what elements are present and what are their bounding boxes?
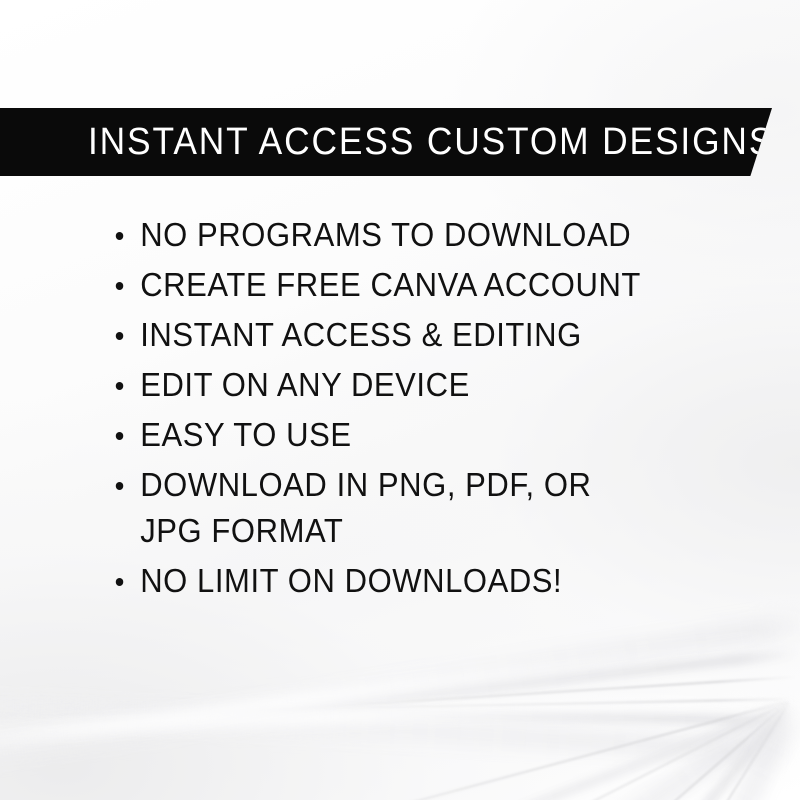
list-item-label: EASY TO USE: [140, 416, 351, 453]
list-item: INSTANT ACCESS & EDITING: [112, 312, 695, 358]
header-banner: INSTANT ACCESS CUSTOM DESIGNS: [0, 108, 772, 176]
list-item: CREATE FREE CANVA ACCOUNT: [112, 262, 695, 308]
list-item-label: NO LIMIT ON DOWNLOADS!: [140, 562, 562, 599]
list-item: NO LIMIT ON DOWNLOADS!: [112, 558, 695, 604]
bullet-icon: [116, 578, 124, 586]
bullet-icon: [116, 232, 124, 240]
list-item-label: CREATE FREE CANVA ACCOUNT: [140, 266, 641, 303]
feature-list: NO PROGRAMS TO DOWNLOAD CREATE FREE CANV…: [112, 212, 732, 608]
list-item-label: EDIT ON ANY DEVICE: [140, 366, 470, 403]
bullet-icon: [116, 282, 124, 290]
list-item: EDIT ON ANY DEVICE: [112, 362, 695, 408]
list-item: DOWNLOAD IN PNG, PDF, OR JPG FORMAT: [112, 462, 629, 554]
promo-graphic: INSTANT ACCESS CUSTOM DESIGNS NO PROGRAM…: [0, 0, 800, 800]
bullet-icon: [116, 382, 124, 390]
page-title: INSTANT ACCESS CUSTOM DESIGNS: [88, 123, 774, 161]
list-item-label: NO PROGRAMS TO DOWNLOAD: [140, 216, 631, 253]
bullet-icon: [116, 432, 124, 440]
list-item: NO PROGRAMS TO DOWNLOAD: [112, 212, 695, 258]
bullet-icon: [116, 482, 124, 490]
bullet-icon: [116, 332, 124, 340]
list-item-label: INSTANT ACCESS & EDITING: [140, 316, 582, 353]
list-item: EASY TO USE: [112, 412, 695, 458]
list-item-label: DOWNLOAD IN PNG, PDF, OR JPG FORMAT: [140, 466, 591, 549]
